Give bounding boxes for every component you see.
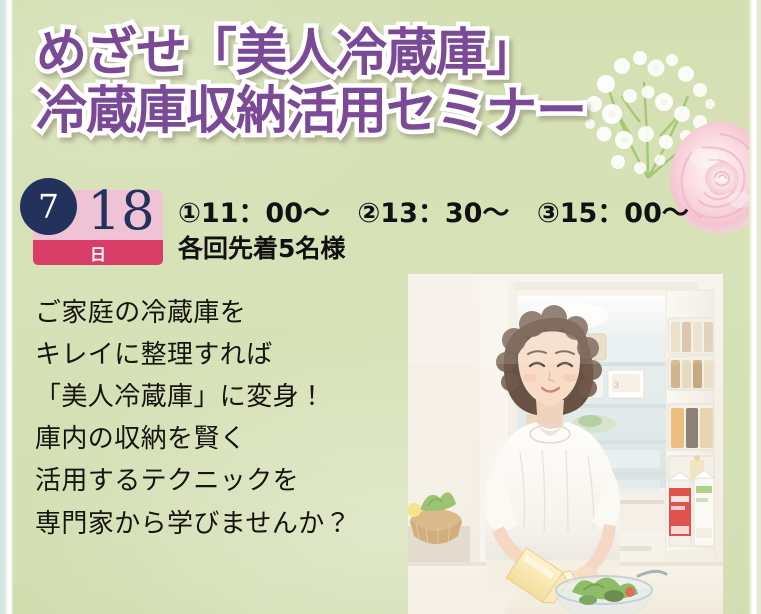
session-slot-3: ③15：00〜 (537, 198, 689, 229)
date-badge: 18 7 日 (33, 190, 163, 265)
page-edge-right-pad (757, 0, 761, 614)
date-badge-month: 7 (20, 178, 77, 235)
body-copy-line3: 「美人冷蔵庫」に変身！ (35, 376, 405, 418)
session-times: ①11：00〜 ②13：30〜 ③15：00〜 各回先着5名様 (178, 196, 738, 265)
body-copy-line2: キレイに整理すれば (35, 334, 405, 376)
body-copy-line4: 庫内の収納を賢く (35, 418, 405, 460)
body-copy-line6: 専門家から学びませんか？ (35, 503, 405, 545)
page-edge-left-white (6, 0, 13, 614)
session-capacity-note: 各回先着5名様 (178, 232, 738, 265)
seminar-flyer: めざせ「美人冷蔵庫」 冷蔵庫収納活用セミナー 18 7 日 ①11：00〜 ②1… (0, 0, 761, 614)
flyer-title-line2: 冷蔵庫収納活用セミナー (36, 86, 676, 138)
session-slot-2: ②13：30〜 (357, 198, 509, 229)
session-slot-1: ①11：00〜 (178, 198, 330, 229)
seminar-photo-illustration: 3 (408, 274, 723, 614)
body-copy-line5: 活用するテクニックを (35, 460, 405, 502)
date-badge-weekday: 日 (33, 240, 163, 265)
flyer-title: めざせ「美人冷蔵庫」 冷蔵庫収納活用セミナー (36, 28, 676, 138)
body-copy: ご家庭の冷蔵庫を キレイに整理すれば 「美人冷蔵庫」に変身！ 庫内の収納を賢く … (35, 292, 405, 545)
body-copy-line1: ご家庭の冷蔵庫を (35, 292, 405, 334)
seminar-photo: 3 (408, 274, 723, 614)
session-times-row: ①11：00〜 ②13：30〜 ③15：00〜 (178, 196, 738, 232)
flyer-title-line1: めざせ「美人冷蔵庫」 (36, 28, 676, 80)
date-badge-day: 18 (79, 183, 163, 240)
